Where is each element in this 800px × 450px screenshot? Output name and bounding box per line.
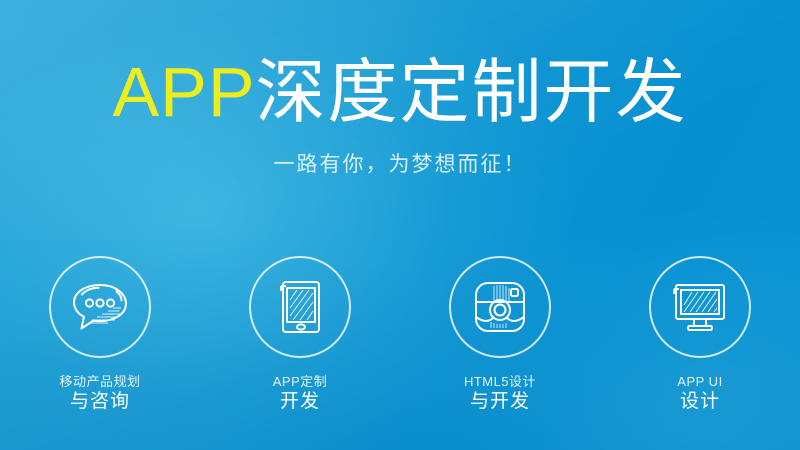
feature-label-top: 移动产品规划	[59, 374, 140, 389]
instagram-camera-icon	[469, 276, 531, 338]
feature-label-group: APP UI 设计	[677, 374, 722, 414]
tablet-device-icon	[271, 276, 329, 338]
feature-label-group: HTML5设计 与开发	[464, 374, 536, 414]
page-subtitle: 一路有你，为梦想而征！	[0, 148, 800, 178]
page-title: APP深度定制开发	[0, 57, 800, 127]
feature-label-group: APP定制 开发	[273, 374, 328, 414]
page-title-main: 深度定制开发	[256, 53, 688, 131]
feature-label-top: APP定制	[273, 374, 328, 389]
feature-icon-circle	[249, 256, 351, 358]
feature-label-bottom: 与咨询	[59, 391, 140, 413]
feature-item-consulting[interactable]: 移动产品规划 与咨询	[0, 256, 200, 414]
feature-label-top: APP UI	[677, 374, 722, 389]
feature-label-group: 移动产品规划 与咨询	[59, 374, 140, 414]
feature-icon-circle	[649, 256, 751, 358]
speech-bubble-icon	[69, 278, 131, 336]
feature-list: 移动产品规划 与咨询	[0, 256, 800, 414]
feature-item-app-development[interactable]: APP定制 开发	[200, 256, 400, 414]
feature-label-bottom: 与开发	[464, 391, 536, 413]
feature-label-bottom: 开发	[273, 391, 328, 413]
feature-item-app-ui[interactable]: APP UI 设计	[600, 256, 800, 414]
feature-label-top: HTML5设计	[464, 374, 536, 389]
feature-icon-circle	[449, 256, 551, 358]
feature-icon-circle	[49, 256, 151, 358]
feature-label-bottom: 设计	[677, 391, 722, 413]
feature-item-html5[interactable]: HTML5设计 与开发	[400, 256, 600, 414]
page-title-accent: APP	[112, 53, 255, 131]
promo-banner: APP深度定制开发 一路有你，为梦想而征！	[0, 0, 800, 450]
desktop-monitor-icon	[668, 278, 732, 336]
